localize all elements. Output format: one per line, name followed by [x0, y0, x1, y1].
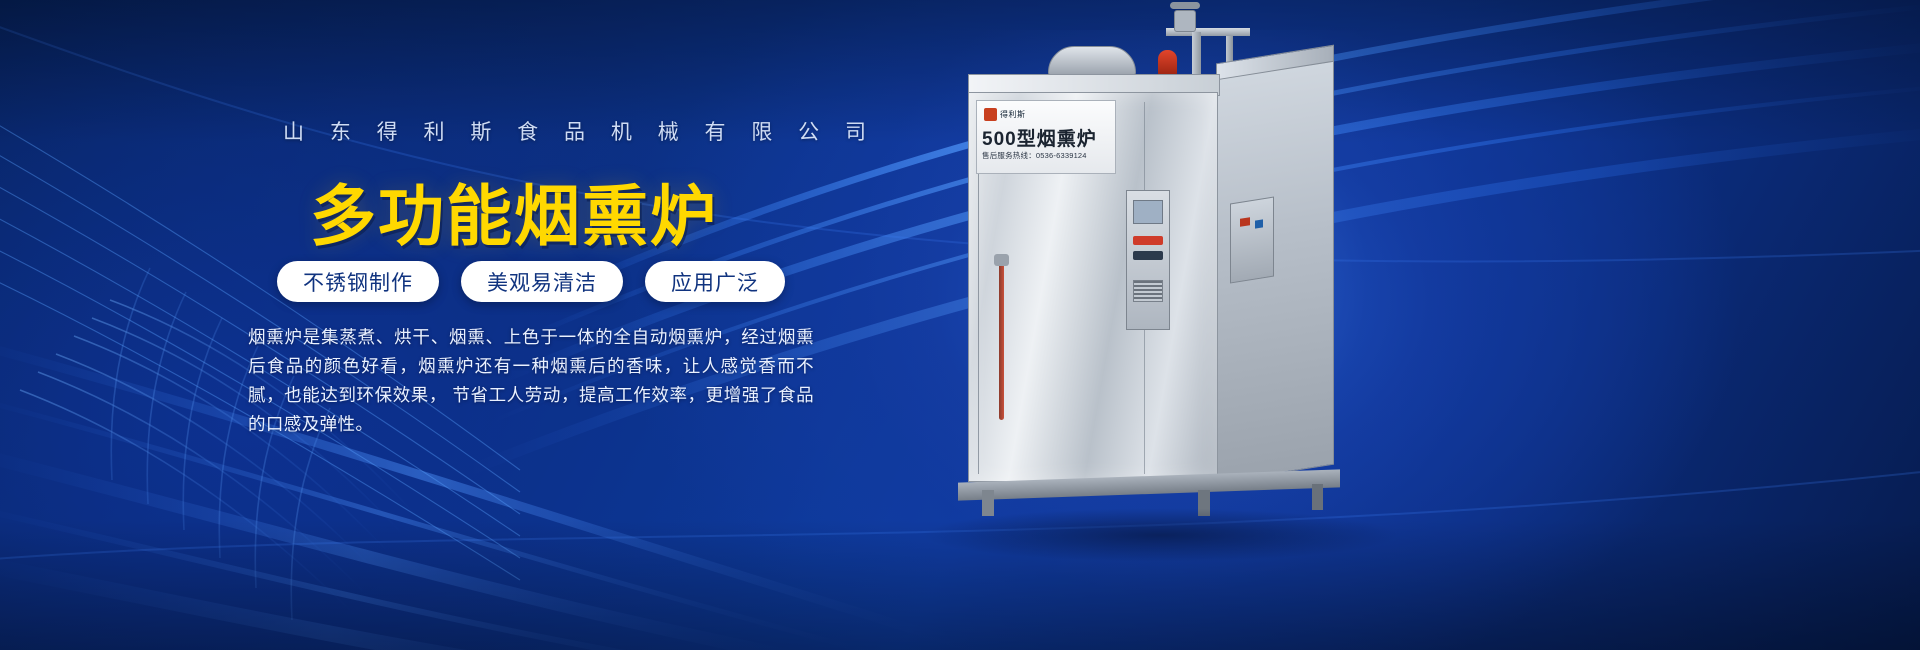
feature-pill-stainless[interactable]: 不锈钢制作 [277, 261, 439, 302]
cabinet-leg [1312, 484, 1323, 510]
signage-hotline: 售后服务热线：0536-6339124 [982, 150, 1112, 161]
feature-pill-label: 应用广泛 [671, 267, 759, 297]
door-handle-knob[interactable] [994, 254, 1009, 266]
control-button-dark[interactable] [1133, 251, 1163, 260]
brand-mark-icon [984, 108, 997, 121]
promo-banner: 山 东 得 利 斯 食 品 机 械 有 限 公 司 多功能烟熏炉 不锈钢制作 美… [0, 0, 1920, 650]
product-description: 烟熏炉是集蒸煮、烘干、烟熏、上色于一体的全自动烟熏炉，经过烟熏后食品的颜色好看，… [248, 323, 814, 439]
alarm-beacon-light [1158, 50, 1177, 76]
door-handle[interactable] [999, 262, 1004, 420]
feature-pill-label: 不锈钢制作 [303, 267, 413, 297]
side-control-box[interactable] [1230, 197, 1274, 284]
page-title: 多功能烟熏炉 [310, 163, 718, 259]
company-name: 山 东 得 利 斯 食 品 机 械 有 限 公 司 [283, 116, 876, 146]
valve-wheel [1170, 2, 1200, 9]
feature-pill-label: 美观易清洁 [487, 267, 597, 297]
product-shadow [920, 508, 1400, 562]
control-button-red[interactable] [1133, 236, 1163, 245]
side-indicator-blue [1255, 219, 1263, 228]
signage-model-title: 500型烟熏炉 [982, 124, 1110, 151]
control-panel-display [1133, 200, 1163, 224]
valve-body [1174, 10, 1196, 32]
banner-copy: 山 东 得 利 斯 食 品 机 械 有 限 公 司 多功能烟熏炉 不锈钢制作 美… [0, 0, 900, 650]
brand-logo-text: 得利斯 [1000, 109, 1026, 120]
brand-logo: 得利斯 [984, 106, 1034, 123]
control-panel-vent [1133, 280, 1163, 302]
feature-pill-easy-clean[interactable]: 美观易清洁 [461, 261, 623, 302]
feature-pill-list: 不锈钢制作 美观易清洁 应用广泛 [277, 261, 785, 302]
side-indicator-red [1240, 217, 1250, 227]
feature-pill-wide-use[interactable]: 应用广泛 [645, 261, 785, 302]
roof-pipe-vertical [1192, 32, 1201, 78]
roof-exhaust-duct [1048, 46, 1136, 76]
product-image-smokehouse-oven: 得利斯 500型烟熏炉 售后服务热线：0536-6339124 [930, 40, 1390, 540]
